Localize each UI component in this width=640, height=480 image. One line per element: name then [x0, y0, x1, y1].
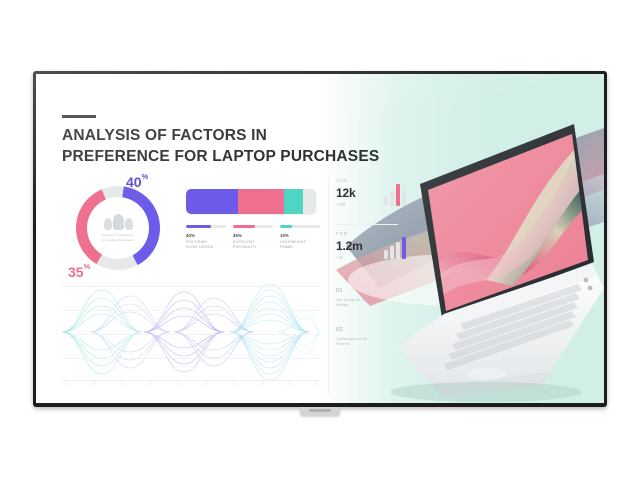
- stat-month: JAN: [336, 178, 408, 183]
- note-item-02: 02 Lightweight and YetPowerful: [336, 327, 408, 348]
- screenshot-stage: ANALYSIS OF FACTORS IN PREFERENCE FOR LA…: [0, 0, 640, 480]
- stack-segment-3: [303, 189, 316, 214]
- people-group-icon: [104, 214, 133, 230]
- note-item-01: 01 Slim Design for YourMobility: [336, 288, 408, 309]
- chart-legend: 40% FEATURINGSLEEK DESIGN 35% EXCELLENTP…: [186, 225, 322, 250]
- note-text: Lightweight and YetPowerful: [336, 337, 408, 348]
- legend-item: 15% LIGHTWEIGHTFRAME: [280, 225, 320, 250]
- legend-item: 35% EXCELLENTPORTABILITY: [233, 225, 273, 250]
- legend-label: EXCELLENTPORTABILITY: [233, 240, 273, 250]
- title-line-2: PREFERENCE FOR LAPTOP PURCHASES: [62, 147, 392, 168]
- legend-pct: 40%: [186, 233, 226, 238]
- note-text: Slim Design for YourMobility: [336, 298, 408, 309]
- stat-month: FEB: [336, 231, 408, 236]
- stacked-bar-chart: [186, 189, 316, 214]
- waveform-chart: [62, 282, 320, 387]
- title-line-1: ANALYSIS OF FACTORS IN: [62, 126, 392, 147]
- legend-label: LIGHTWEIGHTFRAME: [280, 240, 320, 250]
- note-number: 02: [336, 327, 408, 333]
- legend-item: 40% FEATURINGSLEEK DESIGN: [186, 225, 226, 250]
- donut-caption: Factors in Preference for Laptop Purchas…: [90, 233, 146, 242]
- wave-x-axis: [62, 380, 320, 381]
- legend-label: FEATURINGSLEEK DESIGN: [186, 240, 226, 250]
- donut-center: Factors in Preference for Laptop Purchas…: [87, 197, 149, 259]
- monitor-stand: [300, 407, 340, 416]
- monitor-screen: ANALYSIS OF FACTORS IN PREFERENCE FOR LA…: [36, 74, 604, 403]
- stat-divider: [336, 224, 398, 225]
- stat-card-jan: JAN 12k +432: [336, 178, 408, 207]
- donut-label-primary: 40%: [126, 174, 148, 190]
- monitor-device: ANALYSIS OF FACTORS IN PREFERENCE FOR LA…: [33, 71, 607, 407]
- donut-chart: Factors in Preference for Laptop Purchas…: [64, 178, 172, 286]
- stat-card-feb: FEB 1.2m +3k: [336, 231, 408, 260]
- legend-pct: 35%: [233, 233, 273, 238]
- title-rule: [62, 115, 96, 118]
- sparkline-feb: [384, 237, 406, 259]
- stack-segment-0: [186, 189, 238, 214]
- note-number: 01: [336, 288, 408, 294]
- donut-label-secondary: 35%: [68, 264, 90, 280]
- page-title: ANALYSIS OF FACTORS IN PREFERENCE FOR LA…: [62, 126, 392, 167]
- vertical-divider: [328, 178, 329, 393]
- stack-segment-2: [284, 189, 304, 214]
- sparkline-jan: [384, 184, 406, 206]
- legend-pct: 15%: [280, 233, 320, 238]
- stack-segment-1: [238, 189, 284, 214]
